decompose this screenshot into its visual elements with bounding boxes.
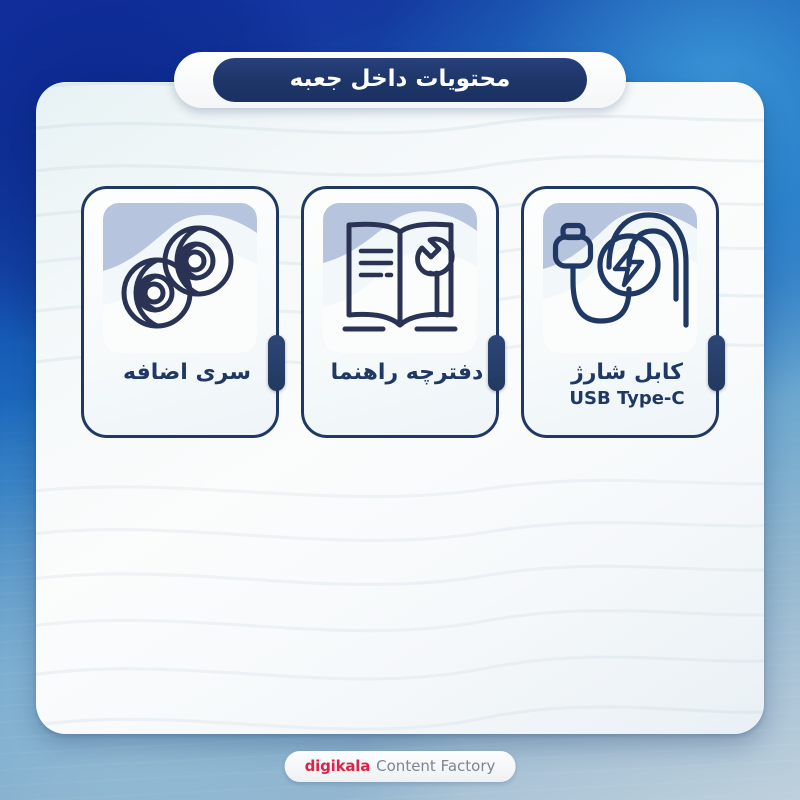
card-label-en: USB Type-C <box>550 388 704 410</box>
card-label-group: سری اضافه <box>84 359 276 388</box>
card-label-group: دفترچه راهنما <box>304 359 496 388</box>
card-charging-cable[interactable]: کابل شارژ USB Type-C <box>521 186 719 438</box>
card-icon-container <box>323 203 477 353</box>
card-extra-ear-tips[interactable]: سری اضافه <box>81 186 279 438</box>
card-user-manual[interactable]: دفترچه راهنما <box>301 186 499 438</box>
card-accent-tab <box>708 335 725 391</box>
header-pill-inner: محتویات داخل جعبه <box>213 58 587 102</box>
usb-c-cable-icon <box>543 203 697 353</box>
card-label-fa: دفترچه راهنما <box>330 359 484 387</box>
card-label-group: کابل شارژ USB Type-C <box>524 359 716 409</box>
digikala-logo-text: digikala <box>305 757 371 775</box>
ear-tips-icon <box>103 203 257 353</box>
card-label-fa: سری اضافه <box>110 359 264 387</box>
card-icon-container <box>103 203 257 353</box>
box-contents-card-row: کابل شارژ USB Type-C <box>36 186 764 438</box>
header-pill-outer: محتویات داخل جعبه <box>174 52 626 108</box>
footer-subtitle: Content Factory <box>376 757 495 775</box>
manual-book-wrench-icon <box>323 203 477 353</box>
infographic-canvas: محتویات داخل جعبه <box>0 0 800 800</box>
card-label-fa: کابل شارژ <box>550 359 704 387</box>
card-accent-tab <box>488 335 505 391</box>
card-icon-container <box>543 203 697 353</box>
footer-badge: digikala Content Factory <box>285 751 516 782</box>
card-accent-tab <box>268 335 285 391</box>
page-title: محتویات داخل جعبه <box>290 68 511 93</box>
